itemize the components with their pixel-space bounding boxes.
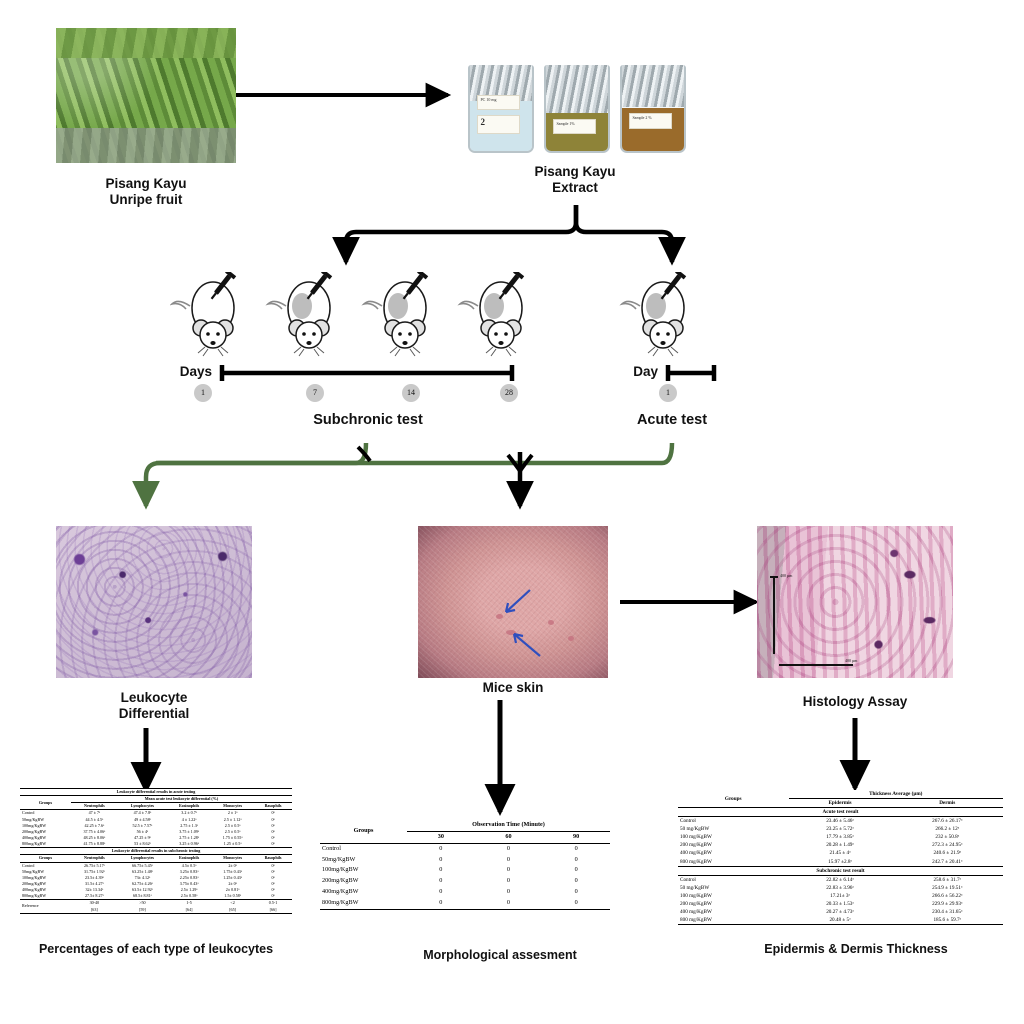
table-row: 50mg/KgBW000: [320, 855, 610, 866]
subchronic-timeline-axis: [218, 362, 518, 384]
histology-micrograph: 400 µm 400 µm: [757, 526, 953, 678]
morphology-col-90: 90: [542, 831, 610, 843]
arrow-extract-to-acute: [576, 205, 672, 262]
unripe-fruit-photo: [56, 28, 236, 163]
day-axis-label: Day: [610, 364, 658, 380]
leukocyte-groups-header-2: Groups: [20, 855, 71, 862]
table-row: 800 mg/KgBW20.48 ± 5ᵃ185.6 ± 59.7ᵃ: [678, 916, 1003, 925]
histology-scalebar-vertical: [773, 576, 775, 654]
histology-scale-label-vertical: 400 µm: [780, 573, 792, 578]
morphology-table: Groups Observation Time (Minute) 30 60 9…: [320, 820, 610, 910]
timeline-chip-acute-1: 1: [659, 384, 677, 402]
bracket-acute-to-results-green: [156, 443, 672, 463]
skin-annotation-arrow-2: [514, 634, 540, 656]
histology-assay-label: Histology Assay: [757, 694, 953, 710]
timeline-chip-1-label: 1: [194, 384, 212, 402]
leukocyte-col-basophils: Basophils: [254, 803, 292, 810]
skin-annotation-arrow-1: [506, 590, 530, 612]
histology-scale-label-horizontal: 400 µm: [845, 658, 857, 663]
table-row: Control47 ± 7ᵃ47.4 ± 7.8ᵃ3.2 ± 0.7ᵃ2 ± 1…: [20, 810, 292, 817]
leukocyte-acute-span-header: Mean acute test leukocyte differential (…: [71, 796, 292, 803]
table-row: 800mg/KgBW000: [320, 898, 610, 909]
leukocyte-table-wrap: Leukocyte differential results in acute …: [20, 788, 292, 914]
thickness-acute-title: Acute test result: [678, 808, 1003, 817]
morphology-caption: Morphological assesment: [350, 948, 650, 962]
table-row: Control23.46 ± 5.46ᵃ267.6 ± 26.17ᵃ: [678, 817, 1003, 826]
leukocyte-caption: Percentages of each type of leukocytes: [8, 942, 304, 956]
thickness-table: Groups Thickness Average (µm) Epidermis …: [678, 790, 1003, 925]
mice-skin-photo: [418, 526, 608, 678]
table-row: 50 mg/KgBW23.25 ± 5.72ᵃ266.2 ± 12ᵃ: [678, 825, 1003, 833]
table-row: Control000: [320, 843, 610, 854]
thickness-caption: Epidermis & Dermis Thickness: [706, 942, 1006, 956]
morphology-table-wrap: Groups Observation Time (Minute) 30 60 9…: [320, 820, 610, 910]
leukocyte-col-neutrophils: Neutrophils: [71, 803, 118, 810]
histology-scalebar-horizontal: [779, 664, 853, 666]
table-row: 800mg/KgBW27.5± 8.27ᵃ68.5± 8.81ᵃ2.5± 0.5…: [20, 893, 292, 900]
table-row: 400mg/KgBW000: [320, 887, 610, 898]
leukocyte-reference-label: Reference: [20, 900, 71, 913]
table-row: 200mg/KgBW000: [320, 876, 610, 887]
leukocyte-micrograph: [56, 526, 252, 678]
table-row: Control26.75± 5.17ᵃ66.75± 5.45ᵃ4.5± 0.5ᵃ…: [20, 862, 292, 869]
table-row: 400 mg/KgBW21.45 ± 4ᵃ240.6 ± 21.9ᵃ: [678, 849, 1003, 857]
leukocyte-differential-label: Leukocyte Differential: [56, 690, 252, 721]
thickness-span-header: Thickness Average (µm): [789, 790, 1004, 799]
timeline-chip-7-label: 7: [306, 384, 324, 402]
beaker-2-tape: Sample 1%: [553, 119, 596, 135]
beaker-2: Sample 1%: [544, 65, 610, 153]
table-row: 400 mg/KgBW20.27 ± 4.73ᵃ230.4 ± 31.65ᵃ: [678, 908, 1003, 916]
beaker-1: PC 10 mg 2: [468, 65, 534, 153]
extract-label: Pisang Kayu Extract: [462, 164, 688, 195]
beaker-3-tape: Sample 2 %: [629, 113, 672, 129]
leukocyte-groups-header: Groups: [20, 796, 71, 810]
leukocyte-col-eosinophils: Eosinophils: [167, 803, 211, 810]
leukocyte-col-monocytes: Monocytes: [211, 803, 254, 810]
thickness-groups-header: Groups: [678, 790, 789, 808]
unripe-fruit-label: Pisang Kayu Unripe fruit: [56, 176, 236, 207]
morphology-col-60: 60: [475, 831, 543, 843]
subchronic-test-label: Subchronic test: [278, 412, 458, 429]
table-row: 200 mg/KgBW20.28 ± 1.49ᵃ272.3 ± 24.95ᵃ: [678, 841, 1003, 849]
timeline-chip-14: 14: [402, 384, 420, 402]
table-row: 800 mg/KgBW15.97 ±2.8ᵃ242.7 ± 20.41ᵃ: [678, 858, 1003, 867]
beaker-1-tape: PC 10 mg: [477, 95, 520, 111]
thickness-col-epidermis: Epidermis: [789, 799, 892, 808]
table-row: Control22.82 ± 6.14ᵃ258.6 ± 31.7ᵃ: [678, 875, 1003, 884]
table-row: 50 mg/KgBW22.83 ± 3.96ᵃ254.9 ± 19.51ᵃ: [678, 884, 1003, 892]
timeline-chip-7: 7: [306, 384, 324, 402]
table-row: 100 mg/KgBW17.79 ± 3.85ᵃ232 ± 50.8ᵃ: [678, 833, 1003, 841]
thickness-col-dermis: Dermis: [892, 799, 1003, 808]
morphology-groups-header: Groups: [320, 820, 407, 843]
acute-timeline-axis: [664, 362, 718, 384]
extract-beakers-photo: PC 10 mg 2 Sample 1% Sample 2 %: [462, 48, 688, 160]
thickness-subchronic-title: Subchronic test result: [678, 866, 1003, 875]
timeline-chip-14-label: 14: [402, 384, 420, 402]
beaker-1-tape2: 2: [477, 115, 520, 134]
timeline-chip-28-label: 28: [500, 384, 518, 402]
table-row-reference-values: Reference 30-40 >50 1-5 <2 0.5-1: [20, 900, 292, 907]
acute-test-label: Acute test: [592, 412, 752, 429]
leukocyte-subchronic-section-title: Leukocyte differential results in subchr…: [20, 848, 292, 855]
mice-row: [170, 272, 730, 364]
morphology-span-header: Observation Time (Minute): [407, 820, 610, 831]
leukocyte-table: Leukocyte differential results in acute …: [20, 788, 292, 914]
table-row: 200 mg/KgBW20.33 ± 1.53ᵃ229.9 ± 29.93ᵃ: [678, 900, 1003, 908]
morphology-col-30: 30: [407, 831, 475, 843]
bracket-tests-to-results-green: [146, 443, 366, 506]
table-row: 100 mg/KgBW17.21± 3ᵃ266.6 ± 56.22ᵃ: [678, 892, 1003, 900]
timeline-chip-1: 1: [194, 384, 212, 402]
histology-scalebar-tick-top: [770, 576, 778, 578]
table-row: 800mg/KgBW41.75 ± 8.88ᵃ53 ± 8.62ᵃ3.25 ± …: [20, 841, 292, 848]
leukocyte-acute-section-title: Leukocyte differential results in acute …: [20, 789, 292, 796]
days-axis-label: Days: [160, 364, 212, 380]
mice-skin-label: Mice skin: [418, 680, 608, 696]
timeline-chip-acute-1-label: 1: [659, 384, 677, 402]
thickness-table-wrap: Groups Thickness Average (µm) Epidermis …: [678, 790, 1003, 925]
beaker-3: Sample 2 %: [620, 65, 686, 153]
leukocyte-col-lymphocytes: Lymphocytes: [118, 803, 167, 810]
table-row: 100mg/KgBW000: [320, 865, 610, 876]
timeline-chip-28: 28: [500, 384, 518, 402]
arrow-extract-split: [346, 205, 576, 262]
